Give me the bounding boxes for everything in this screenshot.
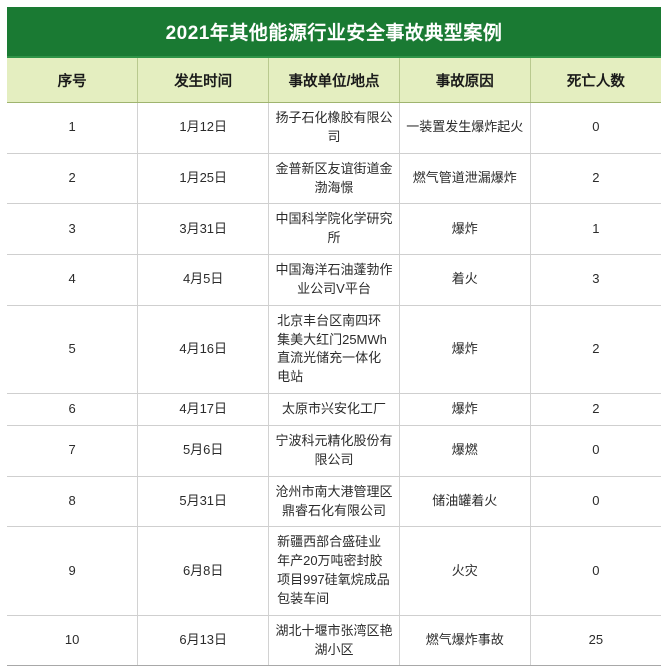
cell-no: 4 xyxy=(7,255,138,306)
column-header-cause: 事故原因 xyxy=(399,57,530,103)
cell-date: 4月17日 xyxy=(138,394,269,426)
cell-date: 1月12日 xyxy=(138,103,269,154)
cell-no: 10 xyxy=(7,615,138,666)
cell-cause: 一装置发生爆炸起火 xyxy=(399,103,530,154)
table-row: 1 1月12日 扬子石化橡胶有限公司 一装置发生爆炸起火 0 xyxy=(7,103,661,154)
cell-unit: 中国海洋石油蓬勃作业公司V平台 xyxy=(269,255,400,306)
cell-unit: 太原市兴安化工厂 xyxy=(269,394,400,426)
cell-unit: 中国科学院化学研究所 xyxy=(269,204,400,255)
cell-no: 2 xyxy=(7,153,138,204)
column-header-unit: 事故单位/地点 xyxy=(269,57,400,103)
cell-deaths: 0 xyxy=(530,527,661,615)
table-row: 5 4月16日 北京丰台区南四环集美大红门25MWh直流光储充一体化电站 爆炸 … xyxy=(7,305,661,393)
cell-cause: 爆炸 xyxy=(399,305,530,393)
cell-date: 5月6日 xyxy=(138,425,269,476)
table-row: 2 1月25日 金普新区友谊街道金渤海憬 燃气管道泄漏爆炸 2 xyxy=(7,153,661,204)
table-head: 2021年其他能源行业安全事故典型案例 序号 发生时间 事故单位/地点 事故原因… xyxy=(7,7,661,103)
cell-cause: 燃气爆炸事故 xyxy=(399,615,530,666)
cell-no: 8 xyxy=(7,476,138,527)
cell-deaths: 3 xyxy=(530,255,661,306)
cell-deaths: 0 xyxy=(530,425,661,476)
table-title-row: 2021年其他能源行业安全事故典型案例 xyxy=(7,7,661,57)
cell-deaths: 25 xyxy=(530,615,661,666)
cell-date: 5月31日 xyxy=(138,476,269,527)
cell-cause: 火灾 xyxy=(399,527,530,615)
table-row: 8 5月31日 沧州市南大港管理区鼎睿石化有限公司 储油罐着火 0 xyxy=(7,476,661,527)
cell-date: 6月8日 xyxy=(138,527,269,615)
table-row: 10 6月13日 湖北十堰市张湾区艳湖小区 燃气爆炸事故 25 xyxy=(7,615,661,666)
cell-cause: 着火 xyxy=(399,255,530,306)
cell-deaths: 2 xyxy=(530,305,661,393)
table-header-row: 序号 发生时间 事故单位/地点 事故原因 死亡人数 xyxy=(7,57,661,103)
cell-date: 4月5日 xyxy=(138,255,269,306)
table-row: 7 5月6日 宁波科元精化股份有限公司 爆燃 0 xyxy=(7,425,661,476)
cell-unit: 沧州市南大港管理区鼎睿石化有限公司 xyxy=(269,476,400,527)
cell-deaths: 0 xyxy=(530,476,661,527)
cell-date: 3月31日 xyxy=(138,204,269,255)
table-row: 9 6月8日 新疆西部合盛硅业年产20万吨密封胶项目997硅氧烷成品包装车间 火… xyxy=(7,527,661,615)
cell-no: 3 xyxy=(7,204,138,255)
cell-no: 6 xyxy=(7,394,138,426)
cell-no: 5 xyxy=(7,305,138,393)
cell-no: 7 xyxy=(7,425,138,476)
cell-unit: 扬子石化橡胶有限公司 xyxy=(269,103,400,154)
table-body: 1 1月12日 扬子石化橡胶有限公司 一装置发生爆炸起火 0 2 1月25日 金… xyxy=(7,103,661,666)
accident-case-table-container: 2021年其他能源行业安全事故典型案例 序号 发生时间 事故单位/地点 事故原因… xyxy=(7,7,661,666)
cell-unit: 北京丰台区南四环集美大红门25MWh直流光储充一体化电站 xyxy=(269,305,400,393)
cell-deaths: 2 xyxy=(530,394,661,426)
cell-date: 1月25日 xyxy=(138,153,269,204)
table-row: 4 4月5日 中国海洋石油蓬勃作业公司V平台 着火 3 xyxy=(7,255,661,306)
cell-deaths: 2 xyxy=(530,153,661,204)
table-row: 3 3月31日 中国科学院化学研究所 爆炸 1 xyxy=(7,204,661,255)
cell-date: 4月16日 xyxy=(138,305,269,393)
cell-no: 1 xyxy=(7,103,138,154)
column-header-deaths: 死亡人数 xyxy=(530,57,661,103)
cell-cause: 爆炸 xyxy=(399,394,530,426)
column-header-date: 发生时间 xyxy=(138,57,269,103)
cell-unit: 新疆西部合盛硅业年产20万吨密封胶项目997硅氧烷成品包装车间 xyxy=(269,527,400,615)
cell-no: 9 xyxy=(7,527,138,615)
cell-cause: 燃气管道泄漏爆炸 xyxy=(399,153,530,204)
accident-case-table: 2021年其他能源行业安全事故典型案例 序号 发生时间 事故单位/地点 事故原因… xyxy=(7,7,661,666)
cell-unit: 湖北十堰市张湾区艳湖小区 xyxy=(269,615,400,666)
cell-deaths: 0 xyxy=(530,103,661,154)
cell-cause: 储油罐着火 xyxy=(399,476,530,527)
cell-cause: 爆炸 xyxy=(399,204,530,255)
column-header-no: 序号 xyxy=(7,57,138,103)
cell-unit: 金普新区友谊街道金渤海憬 xyxy=(269,153,400,204)
cell-date: 6月13日 xyxy=(138,615,269,666)
cell-unit: 宁波科元精化股份有限公司 xyxy=(269,425,400,476)
cell-deaths: 1 xyxy=(530,204,661,255)
cell-cause: 爆燃 xyxy=(399,425,530,476)
table-row: 6 4月17日 太原市兴安化工厂 爆炸 2 xyxy=(7,394,661,426)
page-title: 2021年其他能源行业安全事故典型案例 xyxy=(7,7,661,57)
